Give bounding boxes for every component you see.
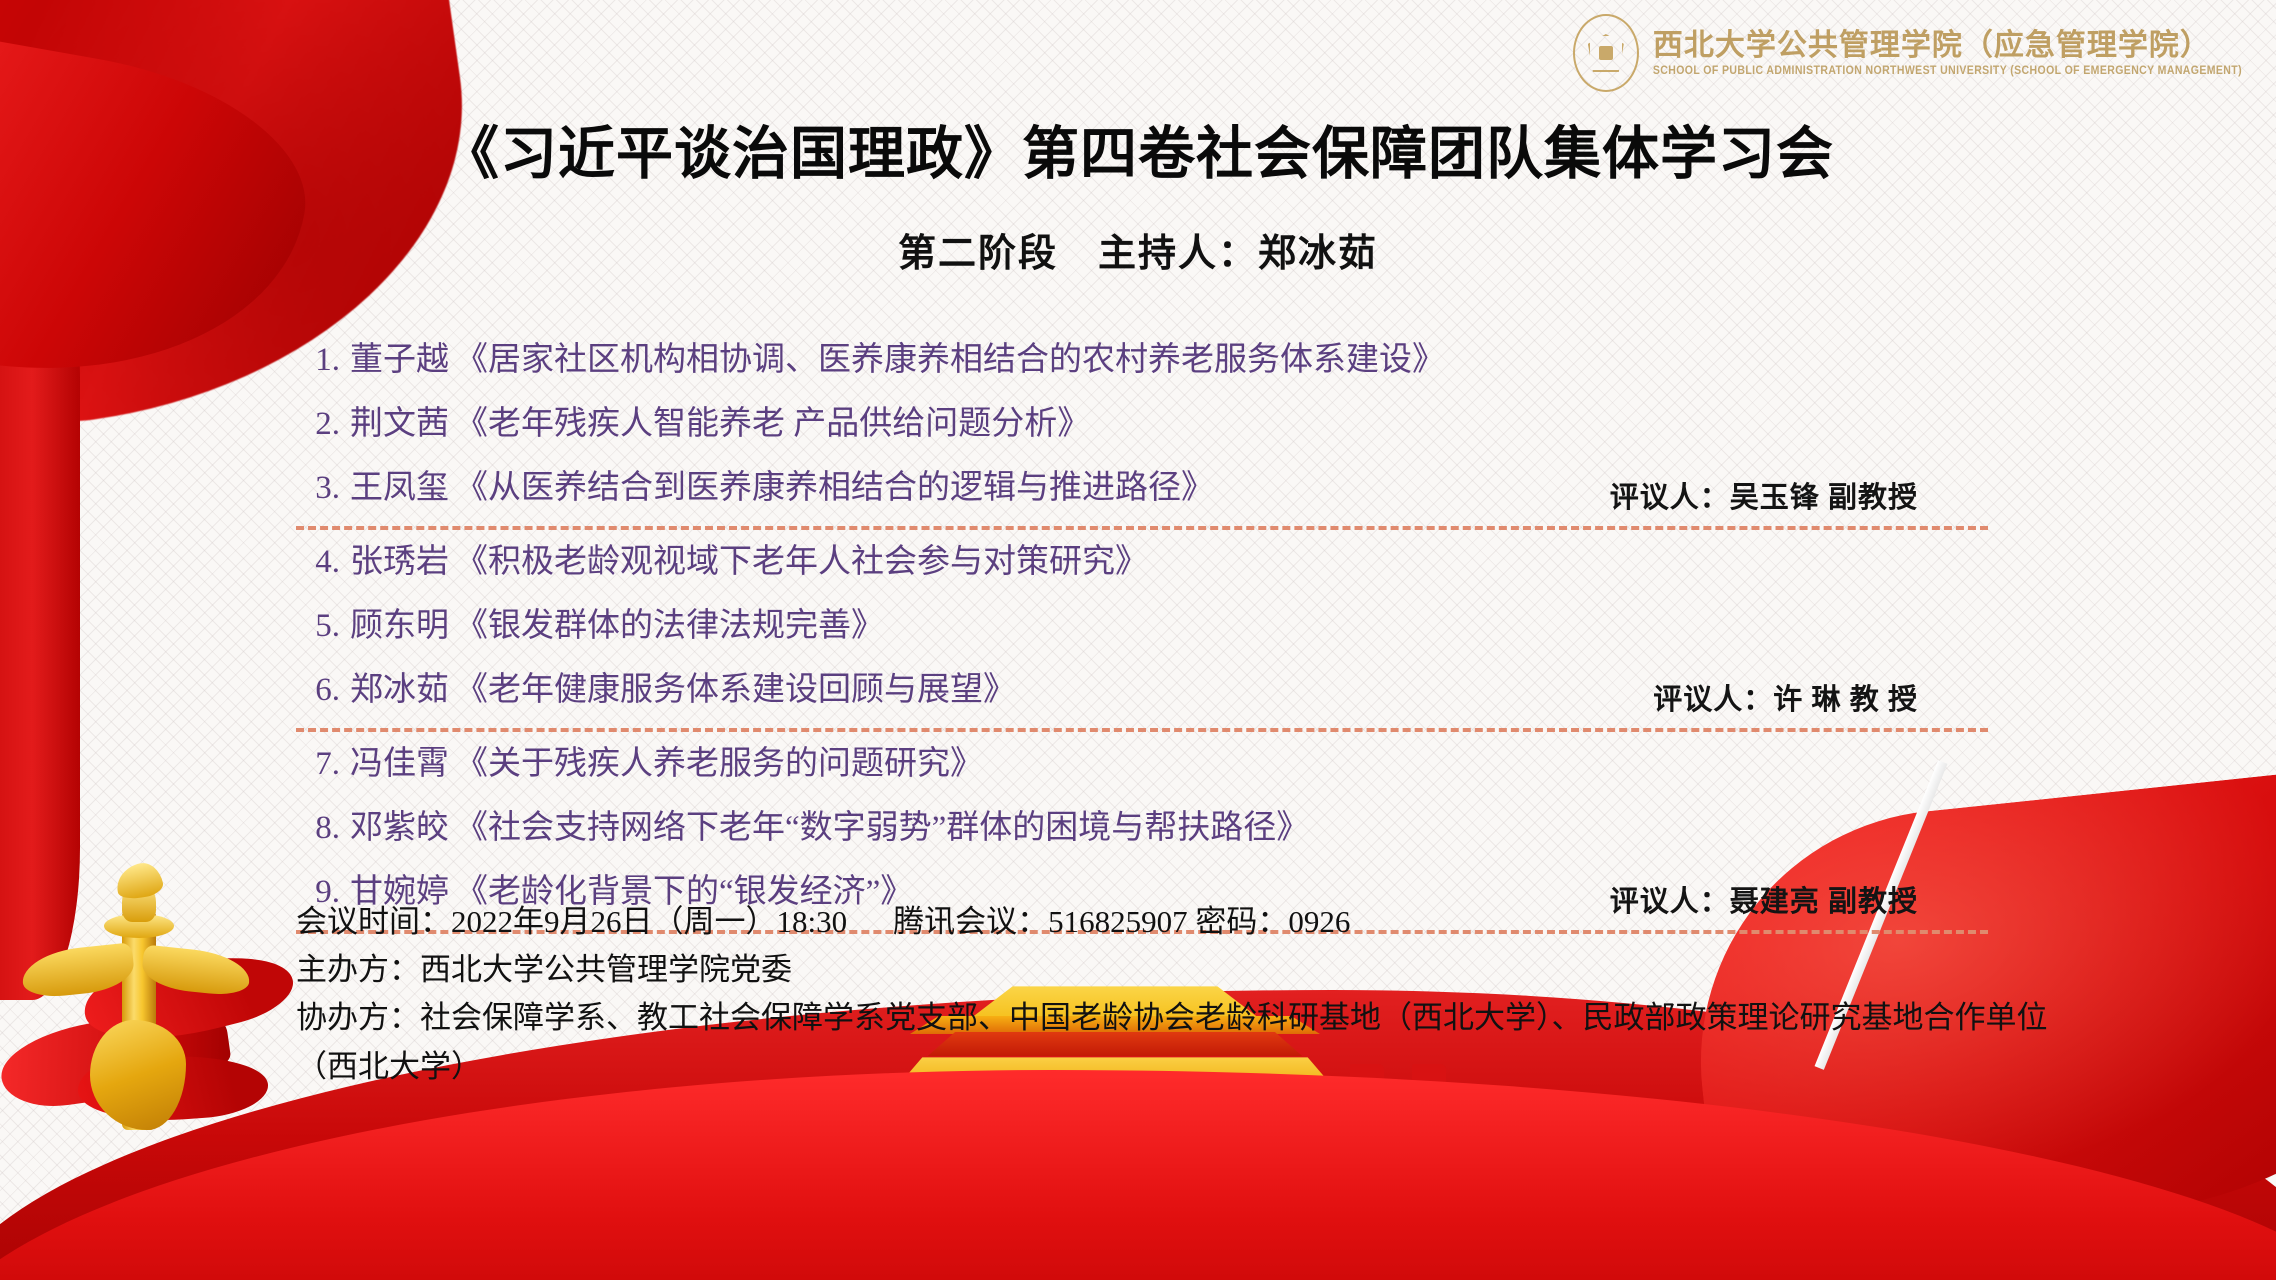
agenda-list: 1. 董子越 《居家社区机构相协调、医养康养相结合的农村养老服务体系建设》 2.… bbox=[296, 332, 1996, 938]
list-item: 4. 张琇岩 《积极老龄观视域下老年人社会参与对策研究》 bbox=[296, 534, 1996, 598]
page-subtitle: 第二阶段 主持人：郑冰茹 bbox=[0, 222, 2276, 277]
cohost-line: 协办方：社会保障学系、教工社会保障学系党支部、中国老龄协会老龄科研基地（西北大学… bbox=[296, 994, 2066, 1092]
host-line: 主办方：西北大学公共管理学院党委 bbox=[296, 946, 2056, 994]
item-number: 6. bbox=[296, 672, 350, 709]
item-topic: 《从医养结合到医养康养相结合的逻辑与推进路径》 bbox=[455, 460, 1214, 508]
logo-chinese-name: 西北大学公共管理学院（应急管理学院） bbox=[1653, 30, 2242, 62]
school-logo: 西北大学公共管理学院（应急管理学院） SCHOOL OF PUBLIC ADMI… bbox=[1573, 14, 2242, 92]
logo-text-block: 西北大学公共管理学院（应急管理学院） SCHOOL OF PUBLIC ADMI… bbox=[1653, 30, 2242, 76]
logo-english-name: SCHOOL OF PUBLIC ADMINISTRATION NORTHWES… bbox=[1653, 65, 2242, 78]
item-presenter: 荆文茜 bbox=[350, 396, 449, 444]
page-title: 《习近平谈治国理政》第四卷社会保障团队集体学习会 bbox=[0, 108, 2276, 190]
item-reviewer: 评议人：许 琳 教 授 bbox=[1653, 676, 1918, 718]
item-topic: 《社会支持网络下老年“数字弱势”群体的困境与帮扶路径》 bbox=[455, 800, 1309, 848]
list-item: 7. 冯佳霄 《关于残疾人养老服务的问题研究》 bbox=[296, 736, 1996, 800]
list-item: 2. 荆文茜 《老年残疾人智能养老 产品供给问题分析》 bbox=[296, 396, 1996, 460]
item-presenter: 顾东明 bbox=[350, 598, 449, 646]
item-presenter: 邓紫皎 bbox=[350, 800, 449, 848]
item-topic: 《关于残疾人养老服务的问题研究》 bbox=[455, 736, 983, 784]
meeting-time-value: 2022年9月26日（周一）18:30 bbox=[451, 904, 847, 939]
item-number: 8. bbox=[296, 810, 350, 847]
list-item: 5. 顾东明 《银发群体的法律法规完善》 bbox=[296, 598, 1996, 662]
item-topic: 《居家社区机构相协调、医养康养相结合的农村养老服务体系建设》 bbox=[455, 332, 1445, 380]
item-topic: 《老年残疾人智能养老 产品供给问题分析》 bbox=[455, 396, 1090, 444]
item-presenter: 冯佳霄 bbox=[350, 736, 449, 784]
item-presenter: 郑冰茹 bbox=[350, 662, 449, 710]
slide-canvas: 西北大学公共管理学院（应急管理学院） SCHOOL OF PUBLIC ADMI… bbox=[0, 0, 2276, 1280]
item-number: 4. bbox=[296, 544, 350, 581]
meeting-id-value: 516825907 bbox=[1048, 904, 1188, 939]
list-item: 6. 郑冰茹 《老年健康服务体系建设回顾与展望》 评议人：许 琳 教 授 bbox=[296, 662, 1996, 726]
item-topic: 《积极老龄观视域下老年人社会参与对策研究》 bbox=[455, 534, 1148, 582]
password-label: 密码： bbox=[1195, 904, 1288, 939]
item-presenter: 董子越 bbox=[350, 332, 449, 380]
item-presenter: 王凤玺 bbox=[350, 460, 449, 508]
meeting-time-label: 会议时间： bbox=[296, 904, 451, 939]
section-divider bbox=[296, 526, 1988, 530]
list-item: 1. 董子越 《居家社区机构相协调、医养康养相结合的农村养老服务体系建设》 bbox=[296, 332, 1996, 396]
item-presenter: 张琇岩 bbox=[350, 534, 449, 582]
password-value: 0926 bbox=[1288, 904, 1350, 939]
list-item: 3. 王凤玺 《从医养结合到医养康养相结合的逻辑与推进路径》 评议人：吴玉锋 副… bbox=[296, 460, 1996, 524]
footer-info: 会议时间：2022年9月26日（周一）18:30腾讯会议：516825907 密… bbox=[296, 898, 2056, 1092]
item-number: 7. bbox=[296, 746, 350, 783]
huabiao-column-icon bbox=[30, 870, 260, 1170]
item-topic: 《银发群体的法律法规完善》 bbox=[455, 598, 884, 646]
item-number: 2. bbox=[296, 406, 350, 443]
item-number: 1. bbox=[296, 342, 350, 379]
item-number: 3. bbox=[296, 470, 350, 507]
list-item: 8. 邓紫皎 《社会支持网络下老年“数字弱势”群体的困境与帮扶路径》 bbox=[296, 800, 1996, 864]
meeting-time-line: 会议时间：2022年9月26日（周一）18:30腾讯会议：516825907 密… bbox=[296, 898, 2056, 946]
section-divider bbox=[296, 728, 1988, 732]
university-seal-icon bbox=[1573, 14, 1639, 92]
item-reviewer: 评议人：吴玉锋 副教授 bbox=[1610, 474, 1918, 516]
item-topic: 《老年健康服务体系建设回顾与展望》 bbox=[455, 662, 1016, 710]
meeting-platform-label: 腾讯会议： bbox=[893, 904, 1048, 939]
item-number: 5. bbox=[296, 608, 350, 645]
